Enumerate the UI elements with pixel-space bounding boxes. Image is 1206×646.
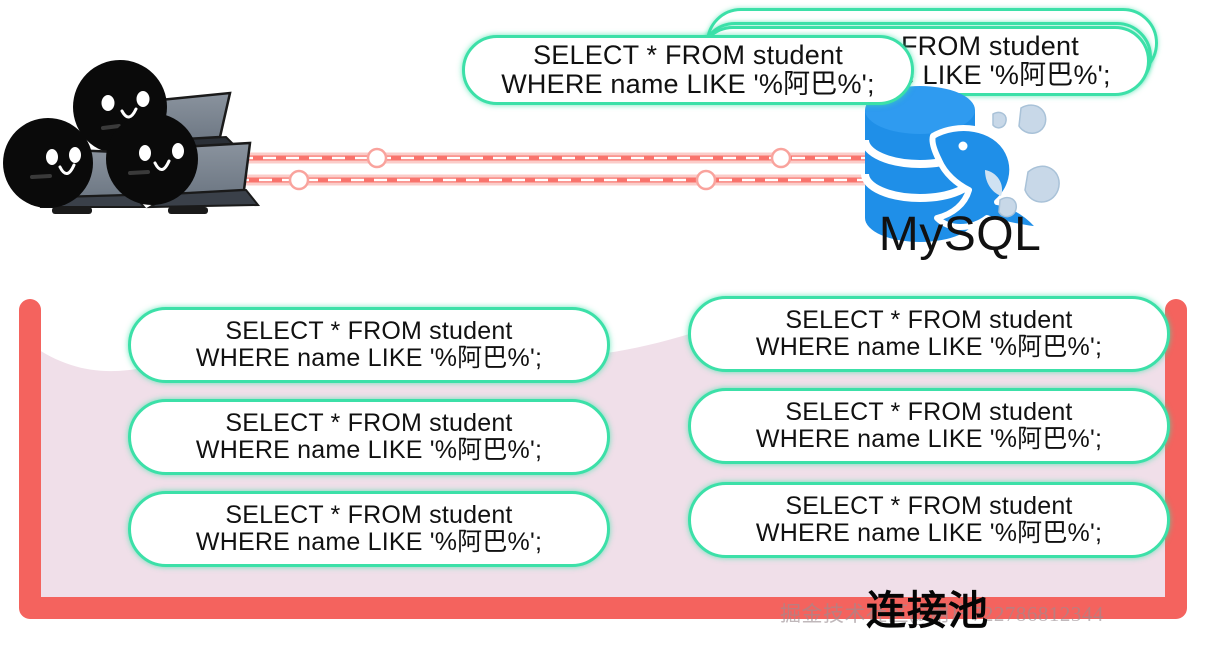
pool-connection-bubble[interactable]: SELECT * FROM student WHERE name LIKE '%…	[128, 491, 610, 567]
query-line-1: SELECT * FROM student	[785, 399, 1072, 426]
query-line-2: WHERE name LIKE '%阿巴%';	[196, 437, 542, 464]
pool-connection-bubble[interactable]: SELECT * FROM student WHERE name LIKE '%…	[688, 388, 1170, 464]
pool-connection-bubble[interactable]: SELECT * FROM student WHERE name LIKE '%…	[688, 296, 1170, 372]
query-bubble-top-left[interactable]: SELECT * FROM student WHERE name LIKE '%…	[462, 35, 914, 105]
query-line-1: SELECT * FROM student	[533, 41, 843, 70]
query-line-1: SELECT * FROM student	[225, 410, 512, 437]
query-line-2: WHERE name LIKE '%阿巴%';	[756, 334, 1102, 361]
connection-line-1	[236, 149, 880, 167]
diagram-canvas: MySQL SELECT * FROM student WHERE name L…	[0, 0, 1206, 646]
mysql-label: MySQL	[845, 207, 1075, 262]
pool-connection-bubble[interactable]: SELECT * FROM student WHERE name LIKE '%…	[688, 482, 1170, 558]
pool-caption-label: 连接池	[866, 578, 989, 636]
query-line-2: WHERE name LIKE '%阿巴%';	[196, 529, 542, 556]
connection-dot	[772, 149, 790, 167]
connection-dot	[290, 171, 308, 189]
query-line-2: WHERE name LIKE '%阿巴%';	[196, 345, 542, 372]
query-line-1: SELECT * FROM student	[225, 502, 512, 529]
query-line-2: WHERE name LIKE '%阿巴%';	[501, 70, 875, 99]
connection-line-2	[232, 171, 880, 189]
pool-connection-bubble[interactable]: SELECT * FROM student WHERE name LIKE '%…	[128, 307, 610, 383]
query-line-2: WHERE name LIKE '%阿巴%';	[756, 426, 1102, 453]
query-line-1: SELECT * FROM student	[225, 318, 512, 345]
connection-dot	[697, 171, 715, 189]
client-group-icon	[0, 55, 280, 245]
query-line-1: SELECT * FROM student	[785, 307, 1072, 334]
connection-dot	[368, 149, 386, 167]
pool-connection-bubble[interactable]: SELECT * FROM student WHERE name LIKE '%…	[128, 399, 610, 475]
query-line-1: SELECT * FROM student	[785, 493, 1072, 520]
query-line-2: WHERE name LIKE '%阿巴%';	[756, 520, 1102, 547]
